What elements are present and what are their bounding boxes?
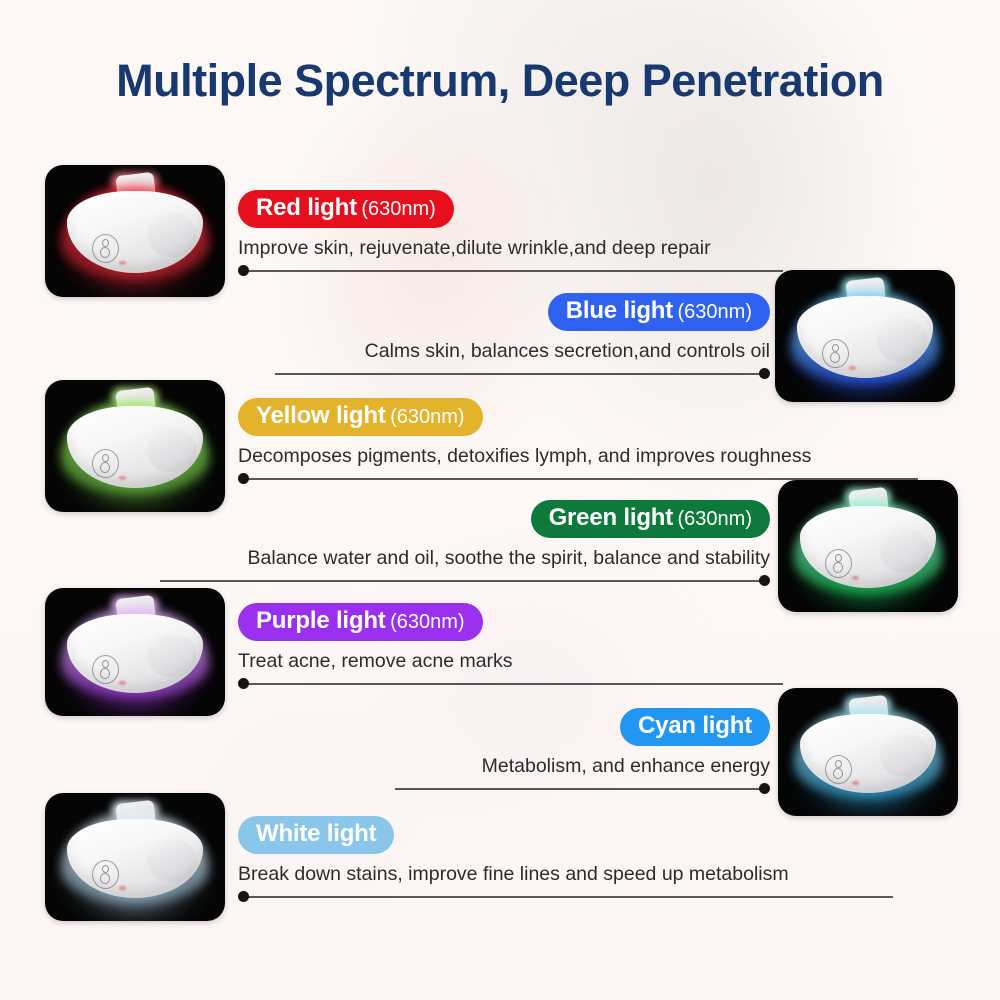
- device-logo-badge-icon: [822, 339, 849, 368]
- device-logo-badge-icon: [92, 860, 119, 889]
- connector-rule-blue: [275, 367, 770, 381]
- device-logo-badge-icon: [825, 549, 852, 578]
- light-name-cyan: Cyan light: [638, 712, 752, 739]
- light-name-white: White light: [256, 820, 376, 847]
- spectrum-row-purple: Purple light (630nm) Treat acne, remove …: [238, 603, 783, 691]
- device-thumbnail-green: [778, 480, 958, 612]
- device-thumbnail-yellow: [45, 380, 225, 512]
- description-blue: Calms skin, balances secretion,and contr…: [275, 340, 770, 363]
- label-pill-white[interactable]: White light: [238, 816, 394, 854]
- spectrum-row-blue: Blue light (630nm) Calms skin, balances …: [275, 293, 770, 381]
- wavelength-red: (630nm): [361, 198, 435, 220]
- description-red: Improve skin, rejuvenate,dilute wrinkle,…: [238, 237, 783, 260]
- wavelength-yellow: (630nm): [390, 406, 464, 428]
- connector-rule-red: [238, 264, 783, 278]
- connector-rule-purple: [238, 677, 783, 691]
- spectrum-row-green: Green light (630nm) Balance water and oi…: [160, 500, 770, 588]
- page-title: Multiple Spectrum, Deep Penetration: [0, 55, 1000, 107]
- description-cyan: Metabolism, and enhance energy: [395, 755, 770, 778]
- device-logo-badge-icon: [92, 449, 119, 478]
- device-thumbnail-blue: [775, 270, 955, 402]
- device-logo-badge-icon: [92, 655, 119, 684]
- light-name-green: Green light: [549, 504, 673, 531]
- spectrum-row-cyan: Cyan light Metabolism, and enhance energ…: [395, 708, 770, 796]
- connector-rule-cyan: [395, 782, 770, 796]
- label-pill-green[interactable]: Green light (630nm): [531, 500, 770, 538]
- light-name-purple: Purple light: [256, 607, 386, 634]
- label-pill-cyan[interactable]: Cyan light: [620, 708, 770, 746]
- description-yellow: Decomposes pigments, detoxifies lymph, a…: [238, 445, 918, 468]
- label-pill-red[interactable]: Red light (630nm): [238, 190, 454, 228]
- infographic-page: Multiple Spectrum, Deep Penetration: [0, 0, 1000, 1000]
- spectrum-row-red: Red light (630nm) Improve skin, rejuvena…: [238, 190, 783, 278]
- spectrum-row-white: White light Break down stains, improve f…: [238, 816, 893, 904]
- light-name-red: Red light: [256, 194, 357, 221]
- wavelength-purple: (630nm): [390, 611, 464, 633]
- description-green: Balance water and oil, soothe the spirit…: [160, 547, 770, 570]
- device-thumbnail-cyan: [778, 688, 958, 816]
- label-pill-blue[interactable]: Blue light (630nm): [548, 293, 770, 331]
- label-pill-purple[interactable]: Purple light (630nm): [238, 603, 483, 641]
- device-thumbnail-red: [45, 165, 225, 297]
- connector-rule-green: [160, 574, 770, 588]
- device-thumbnail-white: [45, 793, 225, 921]
- description-purple: Treat acne, remove acne marks: [238, 650, 783, 673]
- device-logo-badge-icon: [825, 755, 852, 784]
- device-logo-badge-icon: [92, 234, 119, 263]
- connector-rule-white: [238, 890, 893, 904]
- wavelength-blue: (630nm): [678, 301, 752, 323]
- light-name-yellow: Yellow light: [256, 402, 386, 429]
- light-name-blue: Blue light: [566, 297, 673, 324]
- label-pill-yellow[interactable]: Yellow light (630nm): [238, 398, 483, 436]
- description-white: Break down stains, improve fine lines an…: [238, 863, 893, 886]
- device-thumbnail-purple: [45, 588, 225, 716]
- wavelength-green: (630nm): [678, 508, 752, 530]
- connector-rule-yellow: [238, 472, 918, 486]
- spectrum-row-yellow: Yellow light (630nm) Decomposes pigments…: [238, 398, 918, 486]
